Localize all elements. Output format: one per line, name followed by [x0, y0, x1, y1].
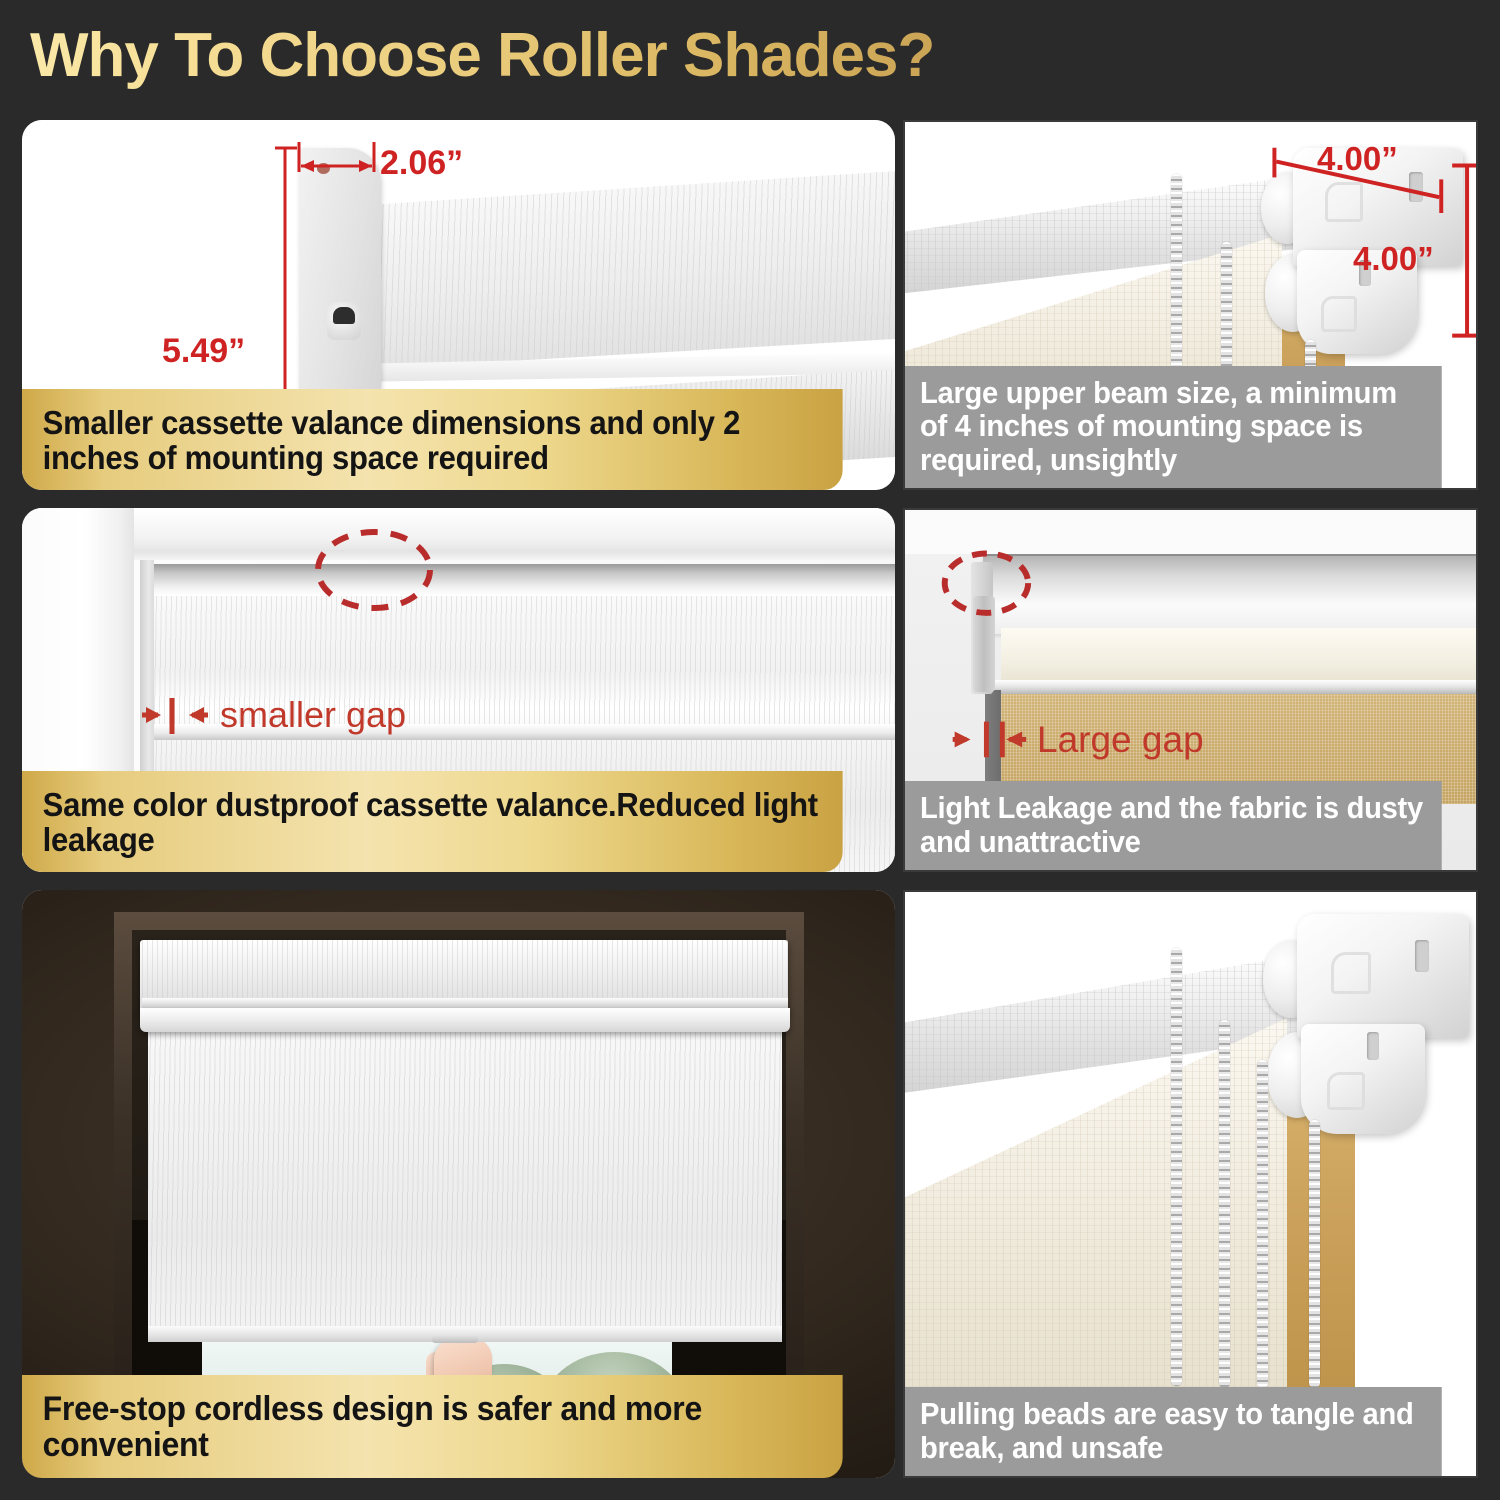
dimension-label-height: 5.49”: [162, 332, 245, 371]
gap-label-smaller: smaller gap: [220, 694, 406, 736]
panel-light-leakage: Large gap Light Leakage and the fabric i…: [903, 508, 1478, 872]
panel-dustproof-cassette-valance: smaller gap Same color dustproof cassett…: [22, 508, 895, 872]
dimension-label-depth: 2.06”: [380, 144, 463, 183]
dimension-label-width: 4.00”: [1317, 140, 1398, 178]
bead-chain: [1309, 1120, 1320, 1388]
panel-caption-pulling-beads: Pulling beads are easy to tangle and bre…: [905, 1387, 1442, 1476]
panel-caption-light-leakage: Light Leakage and the fabric is dusty an…: [905, 781, 1442, 870]
panel-pulling-beads: Pulling beads are easy to tangle and bre…: [903, 890, 1478, 1478]
bead-chain: [1219, 1020, 1230, 1388]
panel-free-stop-cordless: Free-stop cordless design is safer and m…: [22, 890, 895, 1478]
dimension-label-height: 4.00”: [1353, 240, 1434, 278]
panel-caption-smaller-cassette-valance: Smaller cassette valance dimensions and …: [22, 389, 843, 490]
panel-smaller-cassette-valance: 2.06” 5.49” Smaller cassette valance dim…: [22, 120, 895, 490]
bead-chain: [1171, 948, 1182, 1386]
gap-label-large: Large gap: [1037, 719, 1204, 761]
infographic-root: Why To Choose Roller Shades?: [0, 0, 1500, 1500]
panel-caption-dustproof-cassette-valance: Same color dustproof cassette valance.Re…: [22, 771, 843, 872]
panel-large-upper-beam: 4.00” 4.00” Large upper beam size, a min…: [903, 120, 1478, 490]
page-title: Why To Choose Roller Shades?: [30, 20, 934, 91]
panel-caption-free-stop-cordless: Free-stop cordless design is safer and m…: [22, 1375, 843, 1478]
bead-chain: [1257, 1060, 1268, 1388]
panel-caption-large-upper-beam: Large upper beam size, a minimum of 4 in…: [905, 366, 1442, 488]
